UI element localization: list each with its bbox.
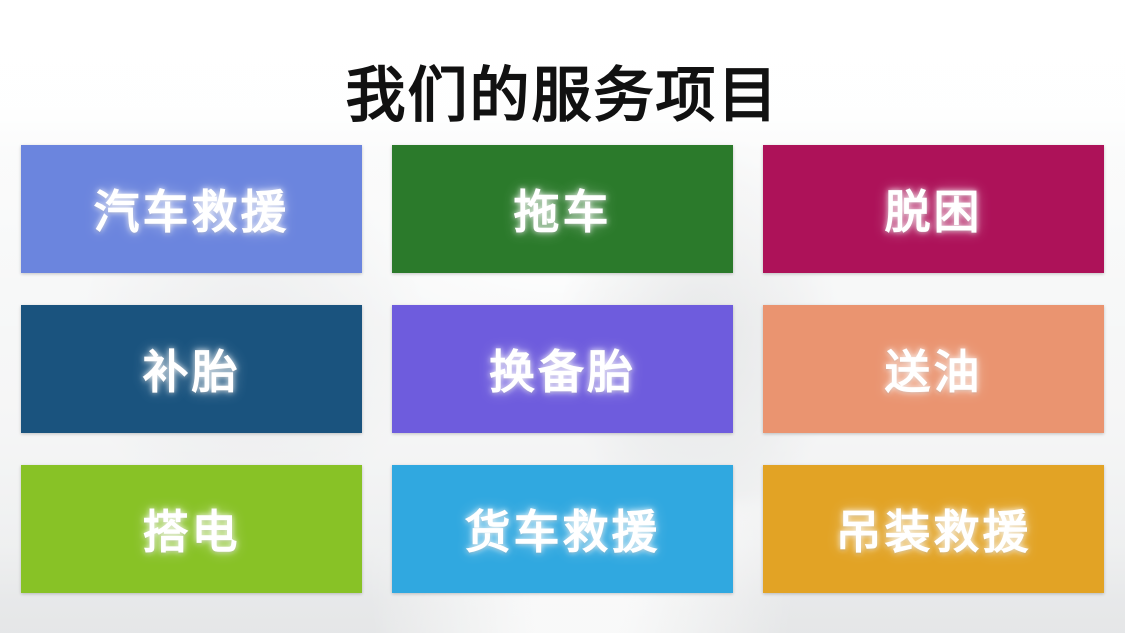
service-tile-truck-rescue[interactable]: 货车救援 [392, 465, 733, 593]
service-tile-label: 脱困 [885, 176, 983, 242]
service-tile-label: 补胎 [143, 336, 241, 402]
service-tile-extrication[interactable]: 脱困 [763, 145, 1104, 273]
service-tile-label: 货车救援 [465, 496, 661, 562]
service-tile-tire-repair[interactable]: 补胎 [21, 305, 362, 433]
service-tile-label: 搭电 [143, 496, 241, 562]
service-tile-jump-start[interactable]: 搭电 [21, 465, 362, 593]
service-tile-label: 送油 [885, 336, 983, 402]
service-tile-label: 拖车 [514, 176, 612, 242]
service-poster: 我们的服务项目 汽车救援 拖车 脱困 补胎 换备胎 送油 搭电 货车救援 吊装救… [0, 0, 1125, 633]
service-tile-towing[interactable]: 拖车 [392, 145, 733, 273]
service-tile-roadside-assistance[interactable]: 汽车救援 [21, 145, 362, 273]
service-tile-label: 汽车救援 [94, 176, 290, 242]
service-tile-label: 换备胎 [489, 336, 636, 402]
service-tile-fuel-delivery[interactable]: 送油 [763, 305, 1104, 433]
service-tile-grid: 汽车救援 拖车 脱困 补胎 换备胎 送油 搭电 货车救援 吊装救援 [21, 145, 1104, 593]
service-tile-label: 吊装救援 [836, 496, 1032, 562]
page-title: 我们的服务项目 [0, 62, 1125, 129]
service-tile-crane-rescue[interactable]: 吊装救援 [763, 465, 1104, 593]
service-tile-spare-tire-change[interactable]: 换备胎 [392, 305, 733, 433]
